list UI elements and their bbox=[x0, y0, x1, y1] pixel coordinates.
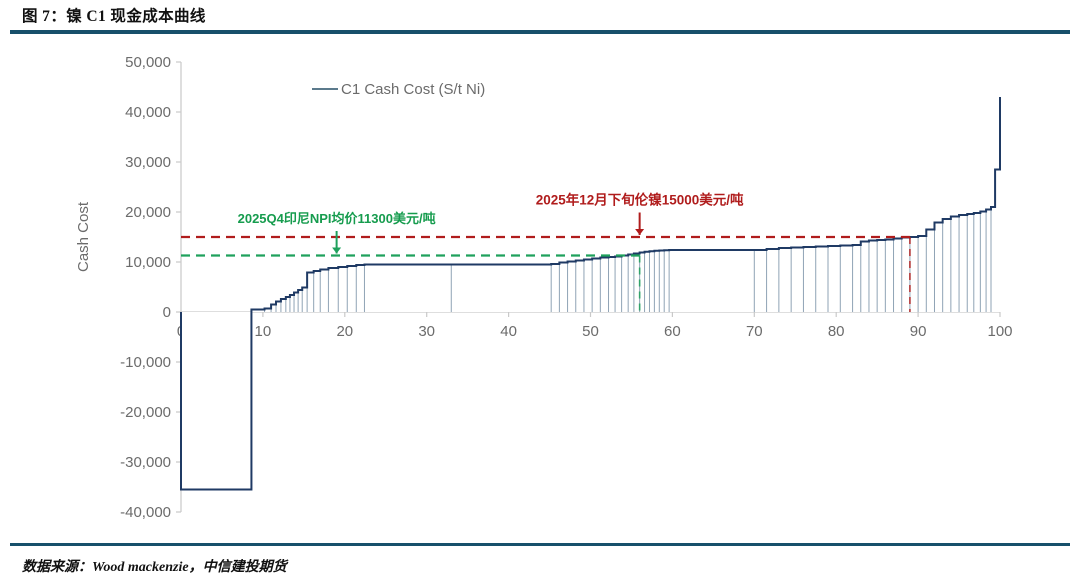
annotation-label-indonesia-npi-price: 2025Q4印尼NPI均价11300美元/吨 bbox=[238, 211, 436, 226]
y-tick-label: 40,000 bbox=[125, 104, 171, 121]
y-tick-label: -10,000 bbox=[120, 354, 171, 371]
x-tick-label: 100 bbox=[987, 323, 1012, 340]
y-tick-label: 20,000 bbox=[125, 204, 171, 221]
y-tick-label: -30,000 bbox=[120, 454, 171, 471]
x-tick-label: 60 bbox=[664, 323, 681, 340]
x-tick-label: 30 bbox=[418, 323, 435, 340]
source-divider-bottom bbox=[10, 543, 1070, 546]
title-divider-top bbox=[10, 30, 1070, 34]
annotation-arrow-head-lme-nickel-price bbox=[635, 229, 644, 235]
chart-container: -40,000-30,000-20,000-10,000010,00020,00… bbox=[0, 40, 1080, 540]
legend-label: C1 Cash Cost (S/t Ni) bbox=[341, 81, 485, 98]
x-tick-label: 80 bbox=[828, 323, 845, 340]
source-note: 数据来源：Wood mackenzie，中信建投期货 bbox=[22, 556, 287, 576]
x-tick-label: 40 bbox=[500, 323, 517, 340]
y-tick-label: 10,000 bbox=[125, 254, 171, 271]
cost-curve-chart: -40,000-30,000-20,000-10,000010,00020,00… bbox=[0, 40, 1080, 540]
y-axis-title: Cash Cost bbox=[75, 201, 92, 272]
figure-title: 图 7：镍 C1 现金成本曲线 bbox=[22, 4, 206, 26]
x-tick-label: 70 bbox=[746, 323, 763, 340]
annotation-arrow-head-indonesia-npi-price bbox=[332, 248, 341, 254]
x-tick-label: 20 bbox=[336, 323, 353, 340]
y-tick-label: -40,000 bbox=[120, 504, 171, 521]
y-tick-label: 50,000 bbox=[125, 54, 171, 71]
x-tick-label: 50 bbox=[582, 323, 599, 340]
annotation-label-lme-nickel-price: 2025年12月下旬伦镍15000美元/吨 bbox=[536, 192, 744, 208]
y-tick-label: 30,000 bbox=[125, 154, 171, 171]
y-tick-label: 0 bbox=[163, 304, 171, 321]
y-tick-label: -20,000 bbox=[120, 404, 171, 421]
x-tick-label: 10 bbox=[255, 323, 272, 340]
x-tick-label: 90 bbox=[910, 323, 927, 340]
